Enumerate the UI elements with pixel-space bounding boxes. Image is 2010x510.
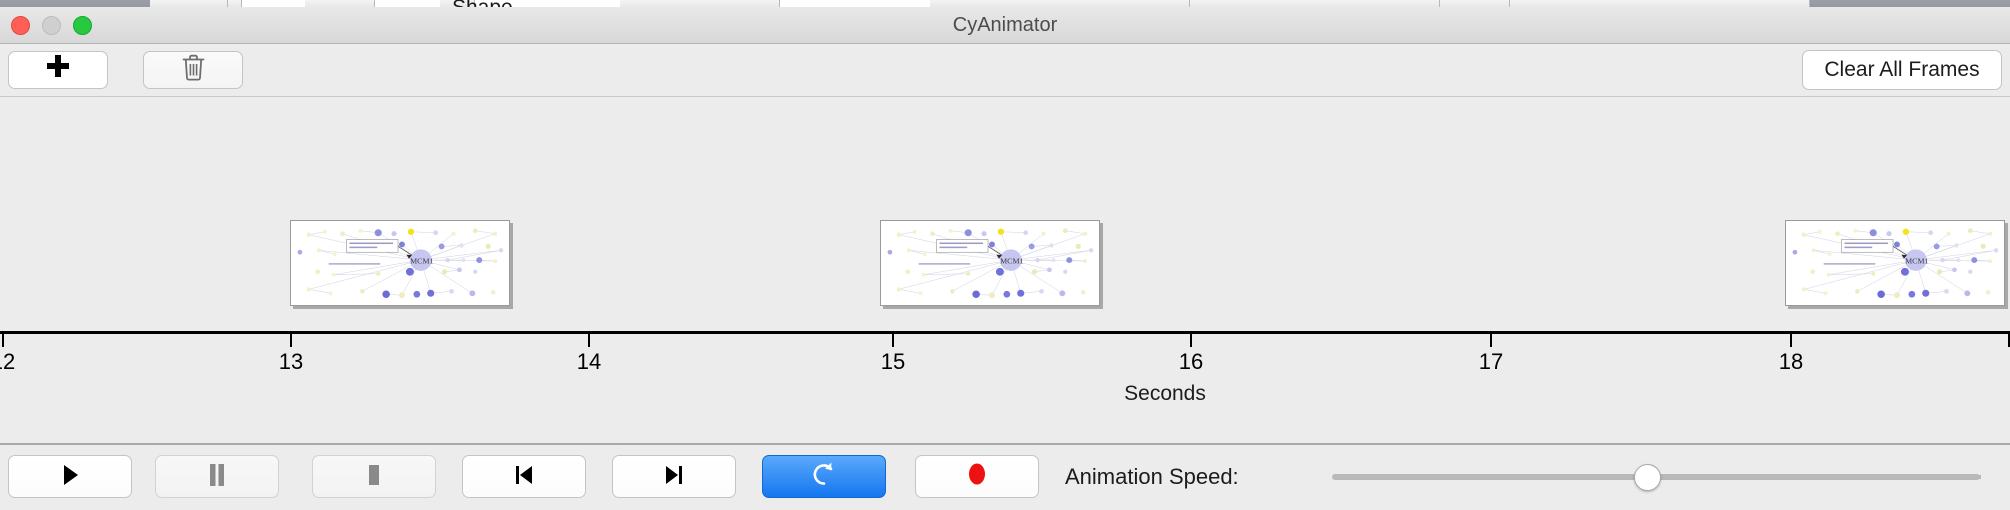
- skip-forward-icon: [662, 463, 686, 491]
- timeline-tick-label: 18: [1779, 349, 1803, 375]
- stop-button: [312, 455, 436, 498]
- play-button[interactable]: [8, 455, 132, 498]
- window-titlebar: CyAnimator: [0, 7, 2010, 44]
- timeline-tick-mark: [1190, 334, 1192, 347]
- animation-speed-thumb[interactable]: [1634, 464, 1661, 491]
- delete-frame-button[interactable]: [143, 51, 243, 89]
- animation-speed-track-end: [1976, 475, 1981, 479]
- timeline-tick-label: 17: [1479, 349, 1503, 375]
- timeline-tick-mark: [588, 334, 590, 347]
- plus-icon: [45, 53, 71, 85]
- frame-toolbar: Clear All Frames: [0, 44, 2010, 97]
- timeline-tick-mark: [1490, 334, 1492, 347]
- timeline-tick-label: 13: [279, 349, 303, 375]
- play-icon: [59, 463, 81, 491]
- frame-thumbnail[interactable]: MCM1: [880, 220, 1100, 306]
- timeline-tick-mark: [290, 334, 292, 347]
- animation-speed-slider[interactable]: [1332, 455, 1980, 498]
- stop-icon: [364, 463, 384, 491]
- loop-icon: [811, 460, 837, 494]
- timeline-tick-label: 15: [881, 349, 905, 375]
- step-back-button[interactable]: [462, 455, 586, 498]
- clear-all-frames-label: Clear All Frames: [1824, 58, 1979, 82]
- add-frame-button[interactable]: [8, 51, 108, 89]
- timeline-tick-label: 12: [0, 349, 15, 375]
- svg-text:MCM1: MCM1: [1000, 257, 1023, 266]
- record-icon: [965, 460, 989, 494]
- skip-back-icon: [512, 463, 536, 491]
- timeline-tick-label: 16: [1179, 349, 1203, 375]
- clear-all-frames-button[interactable]: Clear All Frames: [1802, 50, 2002, 90]
- timeline-tick-mark: [2, 334, 4, 347]
- svg-text:MCM1: MCM1: [410, 257, 433, 266]
- record-button[interactable]: [915, 455, 1039, 498]
- timeline-axis: [0, 331, 2010, 334]
- pause-button: [155, 455, 279, 498]
- svg-text:MCM1: MCM1: [1905, 257, 1928, 266]
- timeline-tick-mark: [892, 334, 894, 347]
- playback-controls-bar: Animation Speed:: [0, 443, 2010, 510]
- timeline-tick-label: 14: [577, 349, 601, 375]
- timeline-axis-title: Seconds: [1124, 382, 1206, 406]
- frame-thumbnail[interactable]: MCM1: [290, 220, 510, 306]
- pause-icon: [207, 463, 227, 491]
- step-forward-button[interactable]: [612, 455, 736, 498]
- animation-speed-label: Animation Speed:: [1065, 455, 1239, 498]
- frame-thumbnail[interactable]: MCM1: [1785, 220, 2005, 306]
- loop-button[interactable]: [762, 455, 886, 498]
- trash-icon: [182, 54, 205, 86]
- cyanimator-window: CyAnimator Clear All Frame: [0, 7, 2010, 510]
- window-title: CyAnimator: [0, 7, 2010, 44]
- timeline-tick-mark: [1790, 334, 1792, 347]
- timeline-panel[interactable]: MCM1MCM1MCM1 12131415161718 Seconds: [0, 97, 2010, 417]
